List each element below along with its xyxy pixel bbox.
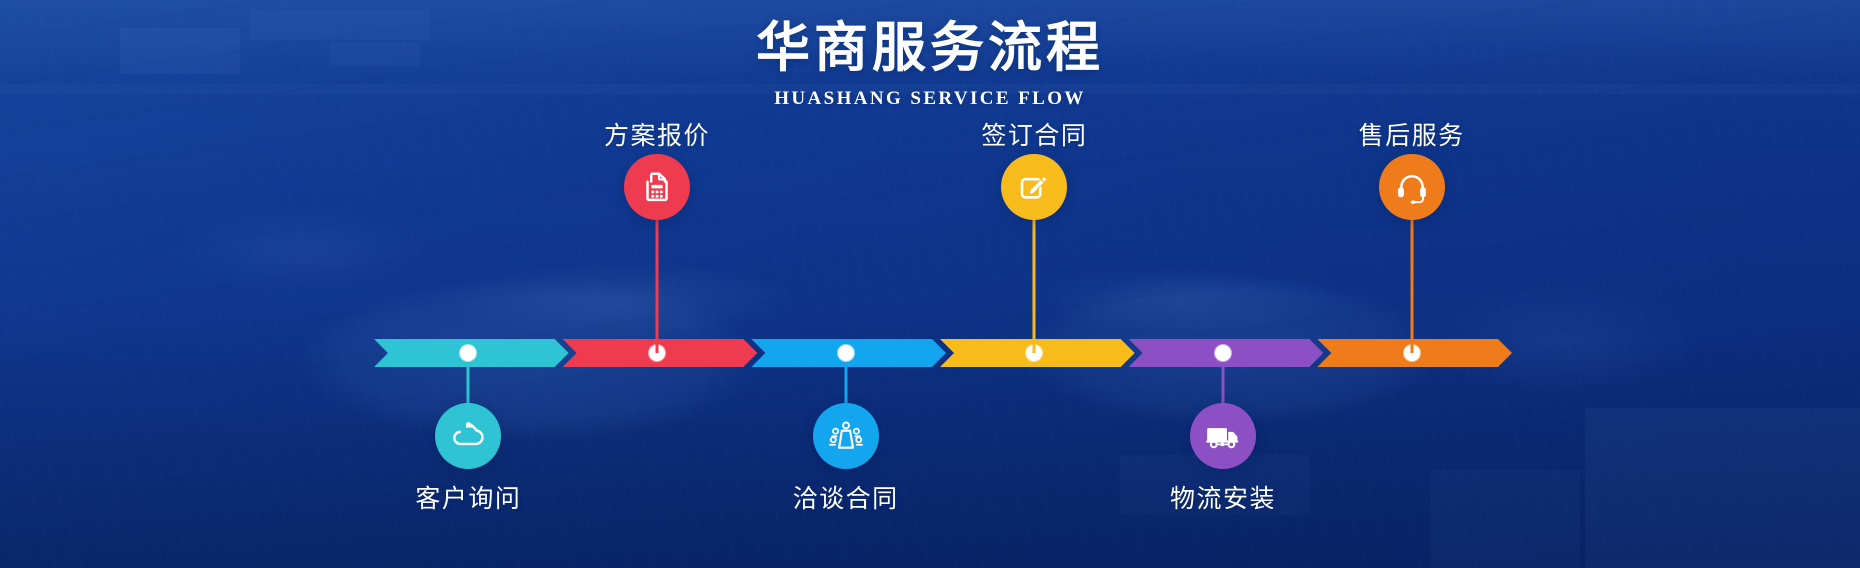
headset-icon — [1393, 168, 1431, 206]
flow-step-stem-6 — [1410, 220, 1413, 353]
cloud-icon — [449, 417, 487, 455]
page-title: 华商服务流程 — [0, 18, 1860, 78]
flow-step-5[interactable]: 物流安装 — [1103, 367, 1343, 567]
flow-step-label-6: 售后服务 — [1359, 116, 1465, 152]
flow-step-2[interactable]: 方案报价 — [537, 140, 777, 367]
flow-step-label-4: 签订合同 — [981, 116, 1087, 152]
flow-step-stem-1 — [467, 367, 470, 405]
banner-heading: 华商服务流程 HUASHANG SERVICE FLOW — [0, 18, 1860, 110]
flow-step-bubble-4[interactable] — [1001, 154, 1067, 220]
flow-step-4[interactable]: 签订合同 — [914, 140, 1154, 367]
flow-step-label-2: 方案报价 — [604, 116, 710, 152]
flow-step-label-5: 物流安装 — [1170, 479, 1276, 515]
flow-step-stem-3 — [844, 367, 847, 405]
flow-segment-dot-5 — [1215, 345, 1231, 361]
sign-pen-icon — [1015, 168, 1053, 206]
flow-step-stem-5 — [1222, 367, 1225, 405]
flow-step-1[interactable]: 客户询问 — [348, 367, 588, 567]
flow-step-label-3: 洽谈合同 — [793, 479, 899, 515]
truck-icon — [1204, 417, 1242, 455]
flow-step-bubble-1[interactable] — [435, 403, 501, 469]
flow-step-bubble-2[interactable] — [624, 154, 690, 220]
flow-step-bubble-6[interactable] — [1379, 154, 1445, 220]
flow-step-6[interactable]: 售后服务 — [1292, 140, 1532, 367]
invoice-icon — [638, 168, 676, 206]
flow-step-3[interactable]: 洽谈合同 — [726, 367, 966, 567]
meeting-icon — [827, 417, 865, 455]
flow-step-stem-4 — [1033, 220, 1036, 353]
flow-step-bubble-5[interactable] — [1190, 403, 1256, 469]
flow-step-bubble-3[interactable] — [813, 403, 879, 469]
flow-segment-dot-3 — [838, 345, 854, 361]
flow-step-label-1: 客户询问 — [415, 479, 521, 515]
service-flow-banner: 华商服务流程 HUASHANG SERVICE FLOW 客户询问方案报价洽谈合… — [0, 0, 1860, 568]
flow-step-stem-2 — [656, 220, 659, 353]
page-subtitle: HUASHANG SERVICE FLOW — [0, 88, 1860, 110]
